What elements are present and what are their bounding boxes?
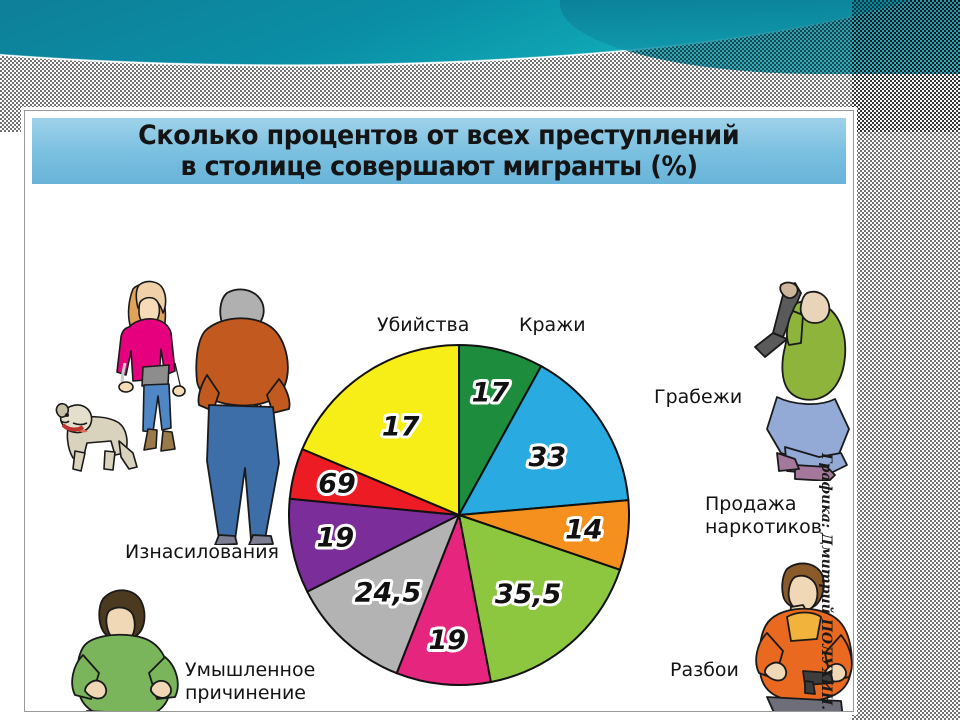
- pie-label-theft: Кражи: [519, 314, 586, 337]
- pie-chart-svg: 17331435,51924,5196917: [287, 343, 631, 687]
- pie-value-label: 19: [428, 625, 466, 656]
- chart-title-line2: в столице совершают мигранты (%): [180, 151, 697, 182]
- pie-label-murder: Убийства: [377, 314, 469, 337]
- pie-chart: 17331435,51924,5196917: [287, 343, 631, 687]
- chart-title-line1: Сколько процентов от всех преступлений: [138, 120, 739, 151]
- pie-label-rape: Изнасилования: [125, 541, 279, 564]
- man-with-crowbar-illustration: [741, 281, 854, 481]
- pie-value-label: 17: [382, 412, 420, 443]
- pie-value-label: 17: [472, 378, 510, 409]
- pie-value-label: 33: [529, 442, 567, 473]
- pie-label-assault: Разбои: [670, 659, 739, 682]
- pie-value-label: 35,5: [495, 579, 562, 610]
- infographic-card: Сколько процентов от всех преступлений в…: [24, 110, 854, 712]
- dog-illustration: [53, 393, 145, 475]
- hooded-man-illustration: [65, 587, 189, 712]
- pie-value-label: 24,5: [355, 577, 422, 608]
- pie-value-label: 19: [317, 523, 355, 554]
- chart-title-band: Сколько процентов от всех преступлений в…: [32, 118, 846, 184]
- pie-label-bodily-harm: Умышленное причинение вреда здоровью: [185, 659, 348, 712]
- graphics-credit: Графика: Дмитрий ПОЛУХИН.: [818, 453, 834, 710]
- pie-value-label: 14: [565, 515, 603, 546]
- pie-label-robbery: Грабежи: [654, 386, 742, 409]
- dither-texture-right: [852, 0, 960, 720]
- pie-value-label: 69: [318, 469, 356, 500]
- man-with-gun-illustration: [743, 561, 854, 712]
- pie-label-drugs: Продажа наркотиков: [705, 493, 822, 539]
